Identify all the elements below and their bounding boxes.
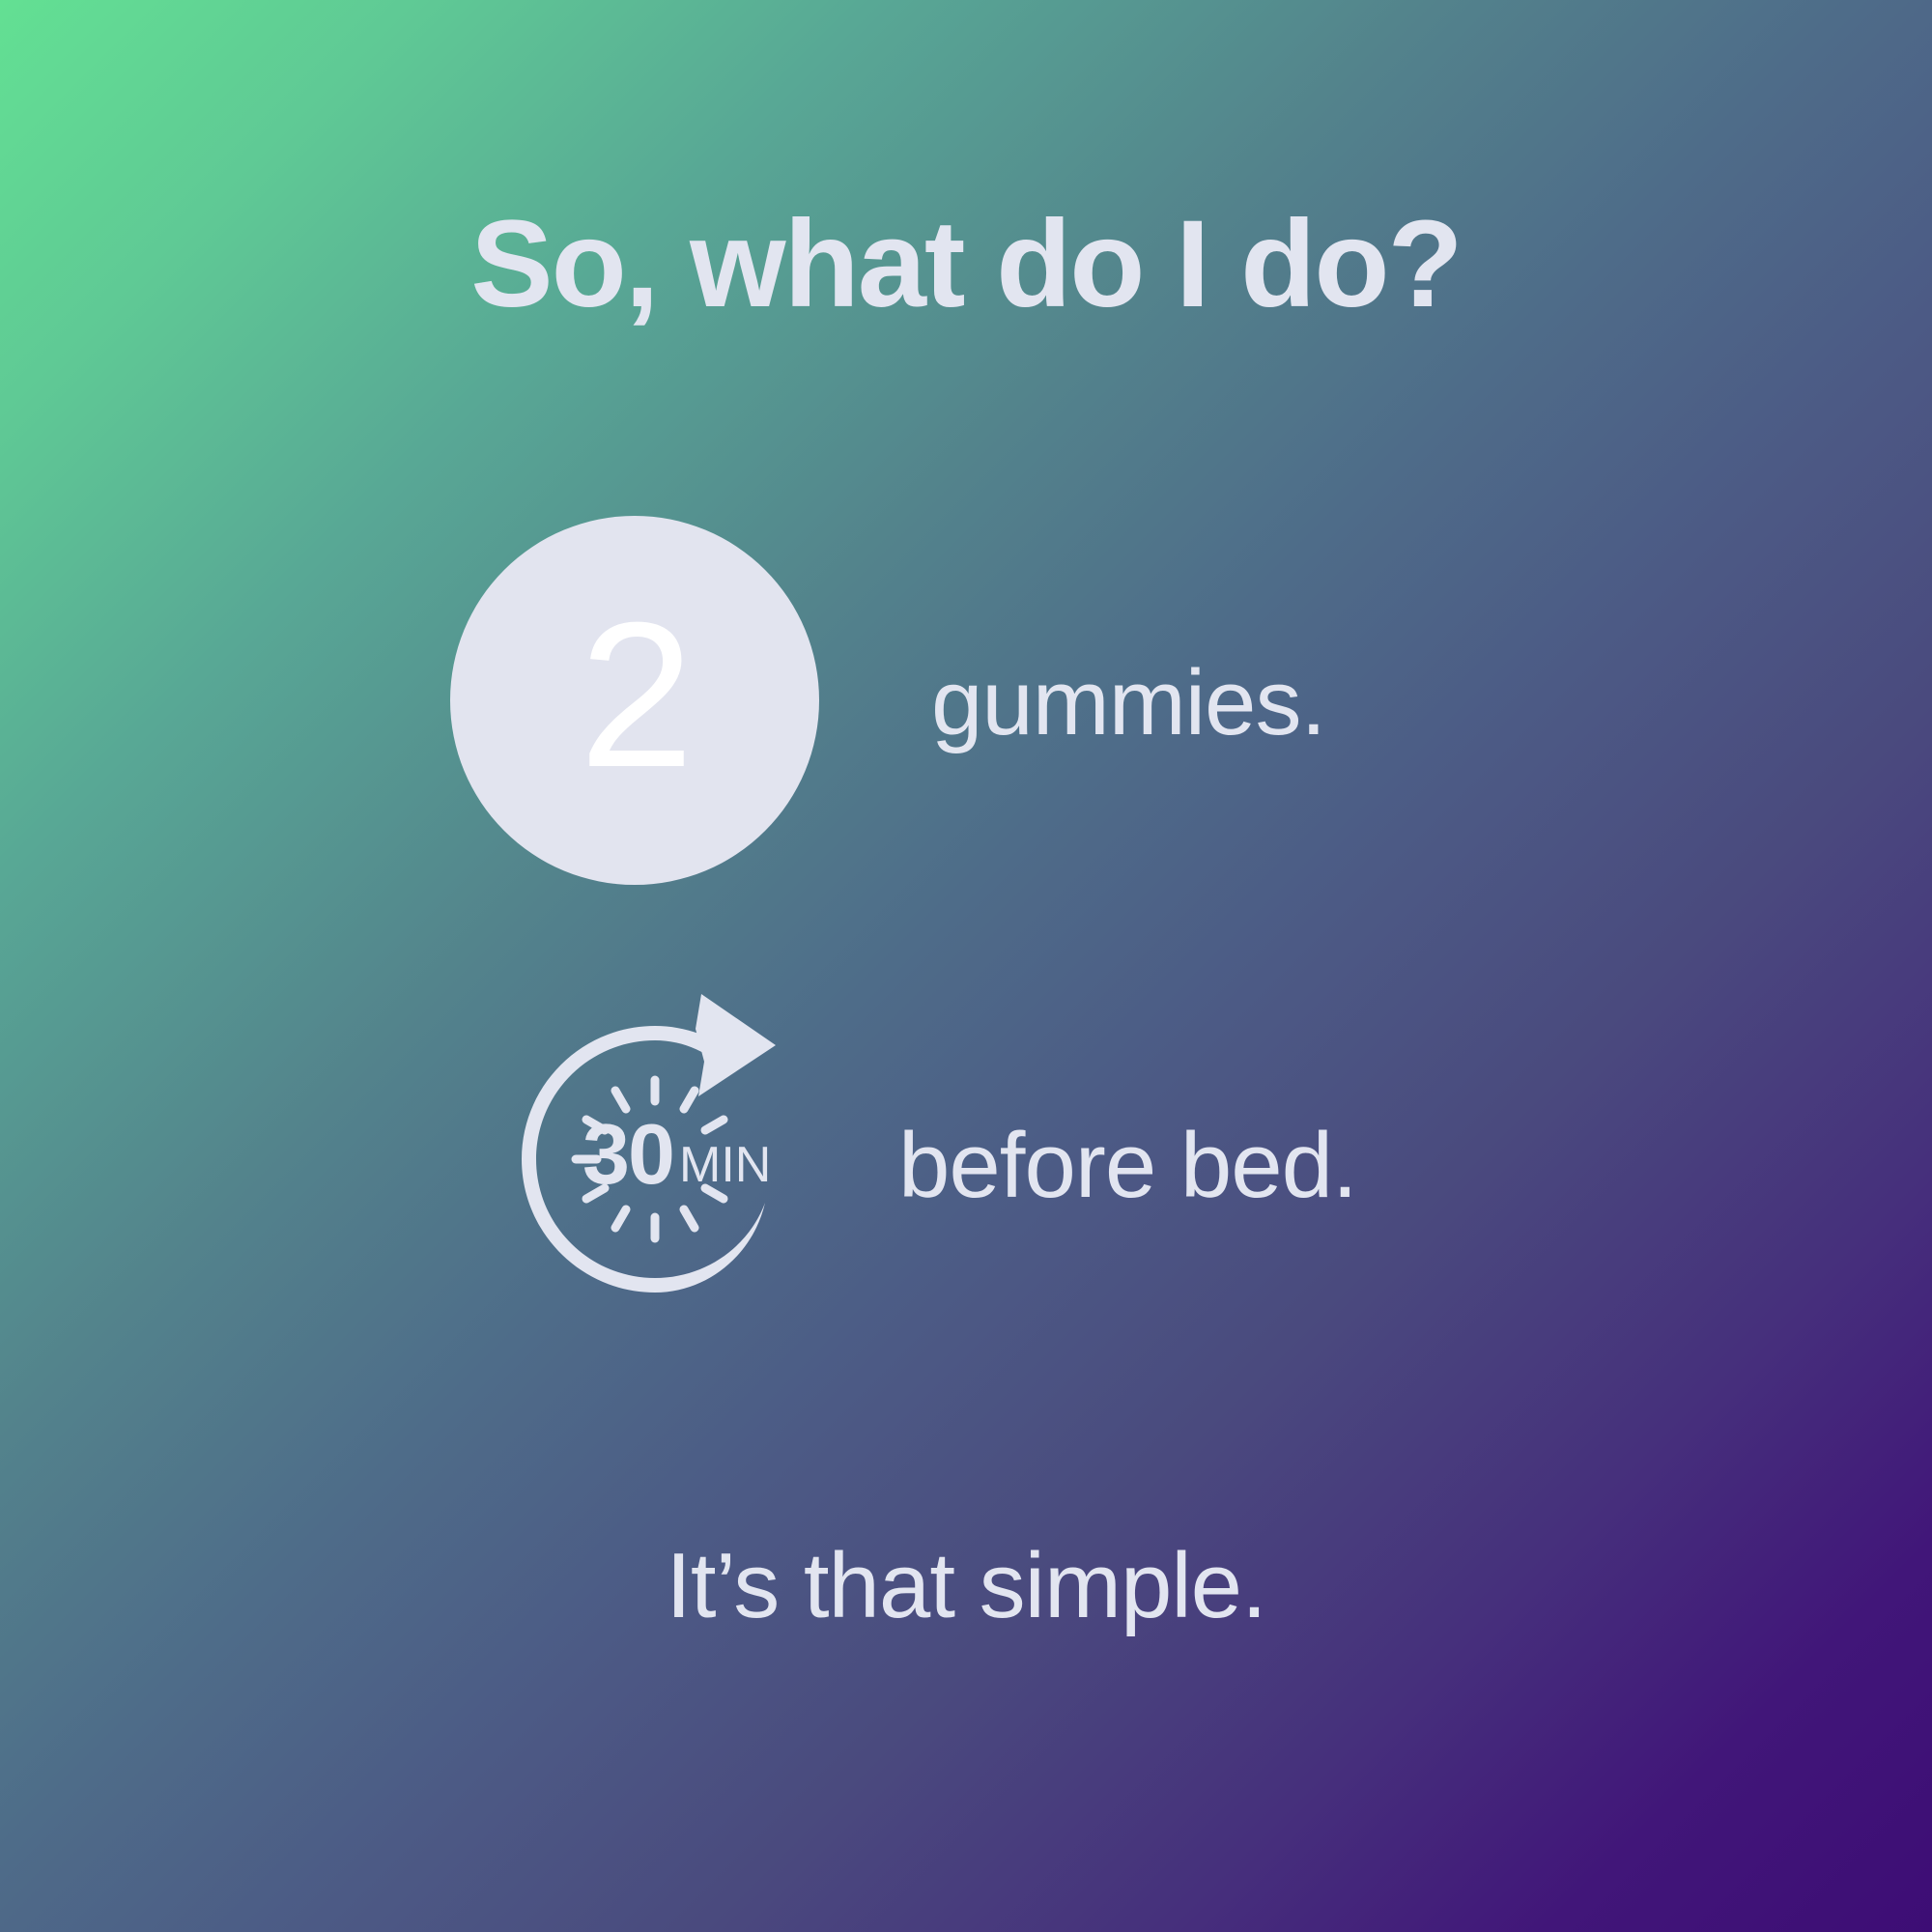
- clock-rotate-arrow-icon: 30 MIN: [481, 985, 838, 1343]
- duration-value-label: 30: [582, 1106, 673, 1202]
- closing-line: It’s that simple.: [0, 1540, 1932, 1633]
- badge-number-label: 2: [579, 592, 690, 799]
- step-label-timing: before bed.: [898, 1120, 1357, 1212]
- number-badge-circle: 2: [450, 516, 819, 885]
- page-title: So, what do I do?: [0, 197, 1932, 333]
- step-label-dose: gummies.: [931, 657, 1325, 750]
- step-row-dose: 2 gummies.: [450, 516, 1325, 885]
- duration-unit-label: MIN: [679, 1137, 771, 1193]
- promo-card: So, what do I do? 2 gummies.: [0, 0, 1932, 1932]
- step-row-timing: 30 MIN before bed.: [481, 985, 1357, 1343]
